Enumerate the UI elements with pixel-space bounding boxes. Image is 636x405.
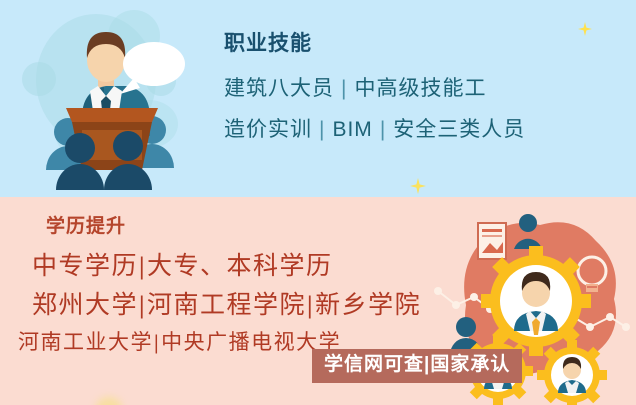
separator: | (153, 330, 161, 354)
education-upgrade-text-block: 学历提升 中专学历|大专、本科学历 郑州大学|河南工程学院|新乡学院 河南工业大… (18, 217, 448, 359)
separator: | (138, 253, 147, 280)
school-item-zhengzhou-university: 郑州大学 (32, 292, 138, 319)
skill-item-bim: BIM (332, 118, 372, 141)
education-upgrade-heading: 学历提升 (46, 217, 448, 238)
skill-item-construction-eight-roles: 建筑八大员 (224, 77, 334, 100)
speaker-podium-illustration (20, 12, 200, 190)
education-line-2: 郑州大学|河南工程学院|新乡学院 (32, 286, 448, 326)
skill-item-cost-training: 造价实训 (224, 118, 312, 141)
separator: | (334, 77, 354, 100)
glow-spot (96, 397, 122, 405)
vocational-skills-line-1: 建筑八大员|中高级技能工 (224, 69, 624, 110)
vocational-skills-section: 职业技能 建筑八大员|中高级技能工 造价实训|BIM|安全三类人员 (0, 0, 636, 197)
promo-banner: 职业技能 建筑八大员|中高级技能工 造价实训|BIM|安全三类人员 (0, 0, 636, 405)
degree-item-college-bachelor: 大专、本科学历 (147, 253, 333, 280)
school-item-xinxiang-university: 新乡学院 (315, 292, 421, 319)
skill-item-safety-three-categories: 安全三类人员 (393, 118, 525, 141)
sparkle-icon (410, 178, 426, 194)
separator: | (306, 292, 315, 319)
skill-item-mid-senior-technician: 中高级技能工 (354, 77, 486, 100)
separator: | (373, 118, 393, 141)
school-item-henan-university-of-technology: 河南工业大学 (18, 330, 153, 354)
school-item-henan-institute-of-engineering: 河南工程学院 (147, 292, 306, 319)
separator: | (312, 118, 332, 141)
vocational-skills-heading: 职业技能 (224, 32, 624, 55)
verification-badge: 学信网可查|国家承认 (312, 349, 522, 383)
vocational-skills-line-2: 造价实训|BIM|安全三类人员 (224, 110, 624, 151)
separator: | (138, 292, 147, 319)
vocational-skills-text-block: 职业技能 建筑八大员|中高级技能工 造价实训|BIM|安全三类人员 (224, 32, 624, 151)
degree-item-vocational-secondary: 中专学历 (32, 253, 138, 280)
education-line-1: 中专学历|大专、本科学历 (32, 247, 448, 287)
